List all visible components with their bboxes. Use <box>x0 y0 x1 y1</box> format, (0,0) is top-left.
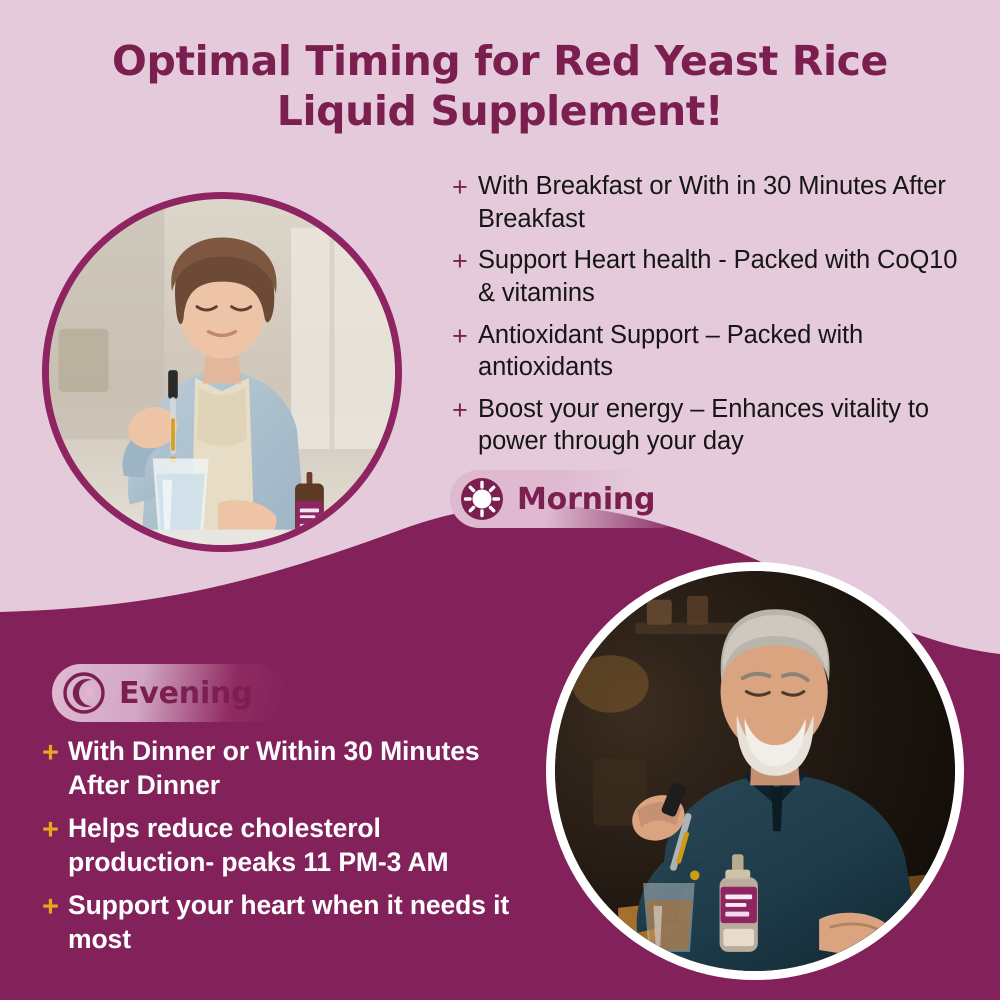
plus-icon: + <box>452 244 478 279</box>
morning-photo <box>42 192 402 552</box>
plus-icon: + <box>42 889 68 926</box>
bullet-text: Boost your energy – Enhances vitality to… <box>478 393 962 458</box>
title-line-2: Liquid Supplement! <box>0 86 1000 136</box>
bullet-text: Antioxidant Support – Packed with antiox… <box>478 319 962 384</box>
morning-scene-illustration <box>49 199 395 545</box>
title-line-1: Optimal Timing for Red Yeast Rice <box>0 36 1000 86</box>
bullet-text: Support your heart when it needs it most <box>68 889 522 957</box>
morning-badge: Morning <box>450 470 689 528</box>
plus-icon: + <box>452 170 478 205</box>
morning-bullet-list: + With Breakfast or With in 30 Minutes A… <box>452 170 962 458</box>
list-item: + Boost your energy – Enhances vitality … <box>452 393 962 458</box>
plus-icon: + <box>452 393 478 428</box>
evening-badge-label: Evening <box>119 676 252 711</box>
evening-photo <box>546 562 964 980</box>
page-title: Optimal Timing for Red Yeast Rice Liquid… <box>0 36 1000 136</box>
plus-icon: + <box>452 319 478 354</box>
plus-icon: + <box>42 735 68 772</box>
evening-badge: Evening <box>52 664 286 722</box>
list-item: + Helps reduce cholesterol production- p… <box>42 812 522 880</box>
bullet-text: Helps reduce cholesterol production- pea… <box>68 812 522 880</box>
bullet-text: Support Heart health - Packed with CoQ10… <box>478 244 962 309</box>
crescent-moon-star-icon <box>62 671 106 715</box>
evening-scene-illustration <box>555 571 955 971</box>
list-item: + With Dinner or Within 30 Minutes After… <box>42 735 522 803</box>
evening-bullet-list: + With Dinner or Within 30 Minutes After… <box>42 735 522 956</box>
list-item: + Support Heart health - Packed with CoQ… <box>452 244 962 309</box>
bullet-text: With Dinner or Within 30 Minutes After D… <box>68 735 522 803</box>
morning-badge-label: Morning <box>517 482 655 517</box>
list-item: + Antioxidant Support – Packed with anti… <box>452 319 962 384</box>
infographic-poster: Optimal Timing for Red Yeast Rice Liquid… <box>0 0 1000 1000</box>
list-item: + Support your heart when it needs it mo… <box>42 889 522 957</box>
plus-icon: + <box>42 812 68 849</box>
evening-photo-image <box>555 571 955 971</box>
sun-icon <box>460 477 504 521</box>
morning-photo-image <box>49 199 395 545</box>
bullet-text: With Breakfast or With in 30 Minutes Aft… <box>478 170 962 235</box>
list-item: + With Breakfast or With in 30 Minutes A… <box>452 170 962 235</box>
